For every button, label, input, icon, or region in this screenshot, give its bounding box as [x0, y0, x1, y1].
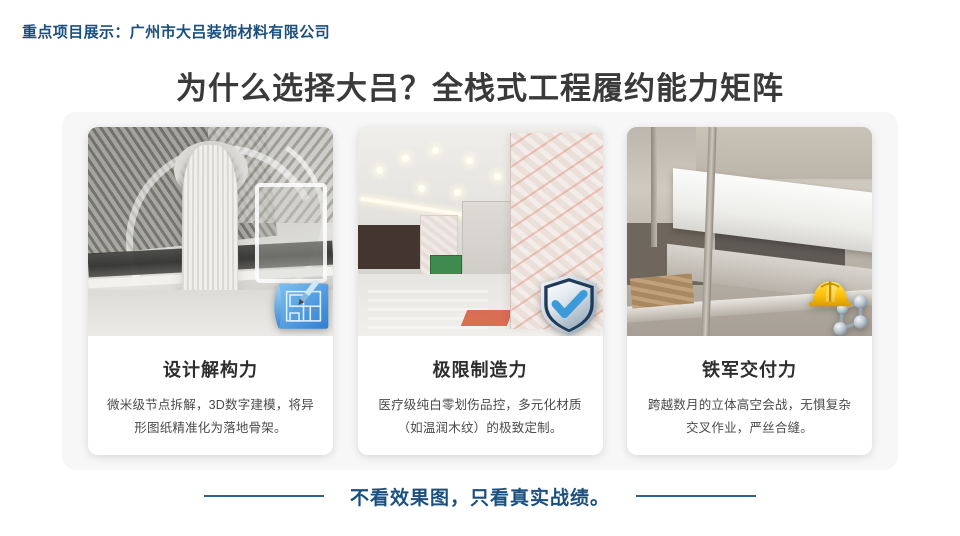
- card-title: 铁军交付力: [643, 356, 856, 382]
- blueprint-icon: [263, 268, 333, 336]
- downlight: [494, 173, 501, 180]
- downlight: [466, 157, 473, 164]
- timber-plank: [630, 273, 694, 308]
- hardhat-molecule-icon: [802, 268, 872, 336]
- downlight: [376, 167, 383, 174]
- card-description: 微米级节点拆解，3D数字建模，将异形图纸精准化为落地骨架。: [104, 394, 317, 440]
- eyebrow-company-label: 重点项目展示：广州市大吕装饰材料有限公司: [22, 21, 330, 42]
- feature-card[interactable]: 极限制造力 医疗级纯白零划伤品控，多元化材质（如温润木纹）的极致定制。: [358, 127, 603, 455]
- downlight: [432, 147, 439, 154]
- card-title: 设计解构力: [104, 356, 317, 382]
- feature-card[interactable]: 设计解构力 微米级节点拆解，3D数字建模，将异形图纸精准化为落地骨架。: [88, 127, 333, 455]
- card-description: 跨越数月的立体高空会战，无惧复杂交叉作业，严丝合缝。: [643, 394, 856, 440]
- feature-cards-row: 设计解构力 微米级节点拆解，3D数字建模，将异形图纸精准化为落地骨架。: [88, 127, 872, 455]
- orange-debris: [460, 310, 512, 326]
- card-body: 设计解构力 微米级节点拆解，3D数字建模，将异形图纸精准化为落地骨架。: [88, 336, 333, 455]
- shield-check-icon: [533, 268, 603, 336]
- downlight: [402, 155, 409, 162]
- card-photo: [627, 127, 872, 336]
- card-photo: [88, 127, 333, 336]
- rule-left: [204, 495, 324, 497]
- rule-right: [636, 495, 756, 497]
- card-description: 医疗级纯白零划伤品控，多元化材质（如温润木纹）的极致定制。: [374, 394, 587, 440]
- footer-text: 不看效果图，只看真实战绩。: [350, 483, 610, 510]
- feature-card[interactable]: 铁军交付力 跨越数月的立体高空会战，无惧复杂交叉作业，严丝合缝。: [627, 127, 872, 455]
- downlight: [454, 189, 461, 196]
- page-title: 为什么选择大吕？全栈式工程履约能力矩阵: [0, 63, 960, 108]
- support-post: [651, 127, 657, 247]
- concrete-slab: [696, 127, 872, 179]
- card-photo: [358, 127, 603, 336]
- card-title: 极限制造力: [374, 356, 587, 382]
- card-body: 铁军交付力 跨越数月的立体高空会战，无惧复杂交叉作业，严丝合缝。: [627, 336, 872, 455]
- downlight: [418, 185, 425, 192]
- footer-tagline: 不看效果图，只看真实战绩。: [0, 481, 960, 511]
- card-body: 极限制造力 医疗级纯白零划伤品控，多元化材质（如温润木纹）的极致定制。: [358, 336, 603, 455]
- slide-root: 重点项目展示：广州市大吕装饰材料有限公司 为什么选择大吕？全栈式工程履约能力矩阵: [0, 0, 960, 536]
